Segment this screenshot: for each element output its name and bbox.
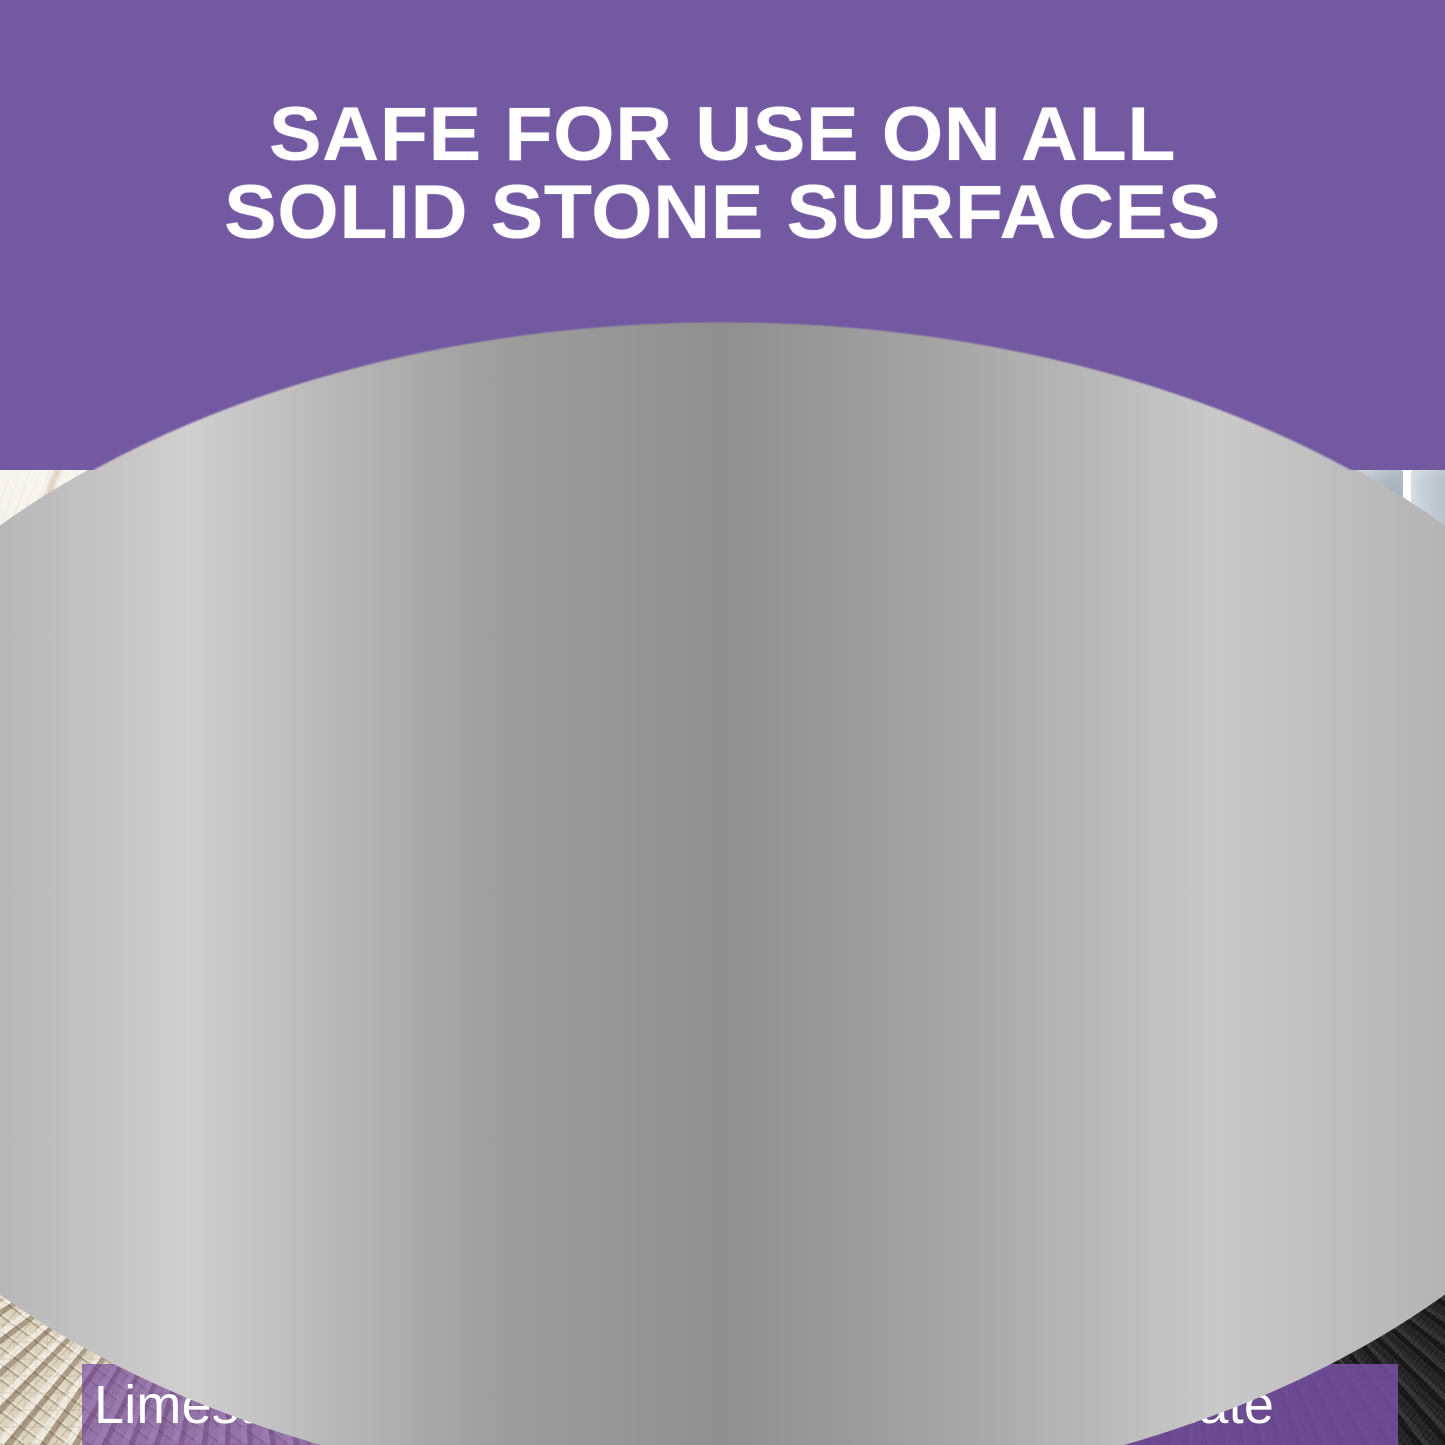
hero-title-line-2: SOLID STONE SURFACES (0, 174, 1445, 252)
page-title: SAFE FOR USE ON ALL SOLID STONE SURFACES (0, 96, 1445, 252)
product-feature-poster: Marble Quartz Tile Limestone Granite Sla… (0, 0, 1445, 1445)
arc-bevel-ring (0, 320, 1445, 1445)
hero-banner: SAFE FOR USE ON ALL SOLID STONE SURFACES (0, 0, 1445, 470)
hero-title-line-1: SAFE FOR USE ON ALL (0, 96, 1445, 174)
